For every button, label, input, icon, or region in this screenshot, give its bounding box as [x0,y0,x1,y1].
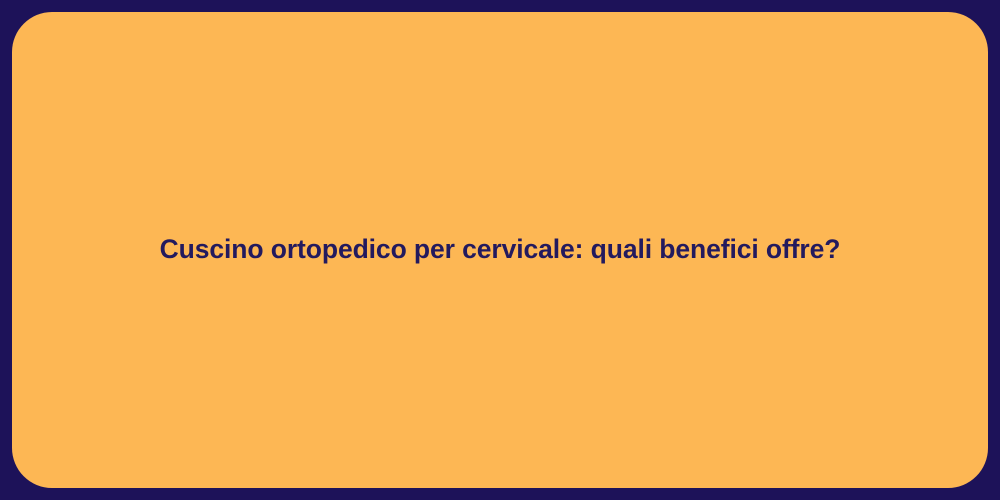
article-title-card: Cuscino ortopedico per cervicale: quali … [12,12,988,488]
page-canvas: Cuscino ortopedico per cervicale: quali … [0,0,1000,500]
page-title: Cuscino ortopedico per cervicale: quali … [120,233,881,266]
